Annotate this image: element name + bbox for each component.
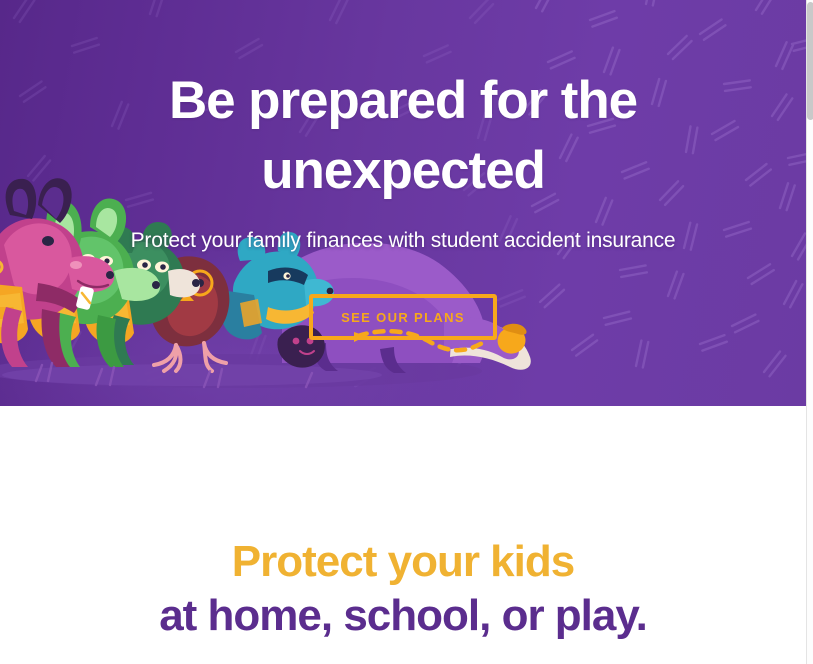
section-heading-line2: at home, school, or play. bbox=[0, 590, 806, 642]
hero-copy: Be prepared for the unexpected Protect y… bbox=[0, 0, 806, 254]
section-heading-line1: Protect your kids bbox=[0, 536, 806, 588]
scrollbar-thumb[interactable] bbox=[807, 2, 813, 120]
hero-section: Be prepared for the unexpected Protect y… bbox=[0, 0, 806, 406]
page-root: Be prepared for the unexpected Protect y… bbox=[0, 0, 813, 664]
hero-title-line1: Be prepared for the bbox=[169, 71, 637, 130]
hero-subtitle: Protect your family finances with studen… bbox=[0, 228, 806, 254]
hero-dash-pattern bbox=[0, 0, 806, 406]
page-title: Be prepared for the unexpected bbox=[0, 66, 806, 206]
hero-illustration bbox=[0, 175, 542, 390]
hero-title-line2: unexpected bbox=[261, 141, 545, 200]
vertical-scrollbar[interactable] bbox=[806, 0, 813, 664]
cta-container: SEE OUR PLANS bbox=[0, 294, 806, 340]
protect-your-kids-section: Protect your kids at home, school, or pl… bbox=[0, 406, 806, 664]
see-our-plans-button[interactable]: SEE OUR PLANS bbox=[309, 294, 497, 340]
